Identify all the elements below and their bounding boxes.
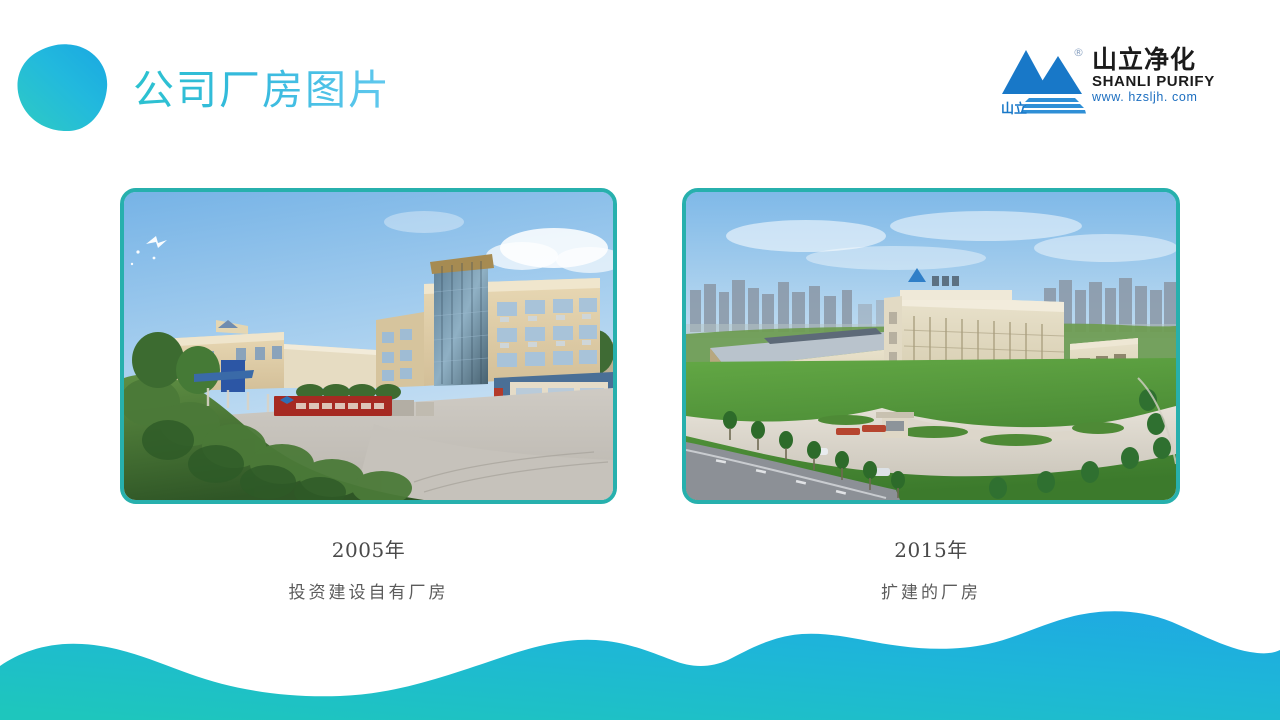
caption-description-2015: 扩建的厂房 [682,580,1180,606]
bottom-wave-decoration [0,608,1280,720]
logo-company-name-en: SHANLI PURIFY [1092,73,1220,90]
registered-trademark-icon: ® [1073,46,1084,59]
caption-2005: 2005年 投资建设自有厂房 [120,536,617,606]
logo-company-name-cn: 山立净化 [1092,46,1220,73]
caption-description-2005: 投资建设自有厂房 [120,580,617,606]
logo-website-url: www. hzsljh. com [1092,90,1220,105]
caption-2015: 2015年 扩建的厂房 [682,536,1180,606]
factory-photo-2005 [124,192,613,500]
caption-year-2015: 2015年 [682,536,1180,564]
decorative-blob-icon [17,44,109,132]
page-title: 公司厂房图片 [133,62,391,118]
slide-canvas: 公司厂房图片 山立 ® 山立净化 SHANLI PURIFY www. hzsl… [0,0,1280,720]
caption-year-2005: 2005年 [120,536,617,564]
factory-photo-2015 [686,192,1176,500]
photo-card-2015[interactable] [682,188,1180,504]
svg-text:山立: 山立 [1001,101,1027,116]
logo-wordmark: 山立净化 SHANLI PURIFY www. hzsljh. com [1092,46,1220,105]
company-logo: 山立 ® 山立净化 SHANLI PURIFY www. hzsljh. com [1000,38,1218,120]
photo-card-2005[interactable] [120,188,617,504]
